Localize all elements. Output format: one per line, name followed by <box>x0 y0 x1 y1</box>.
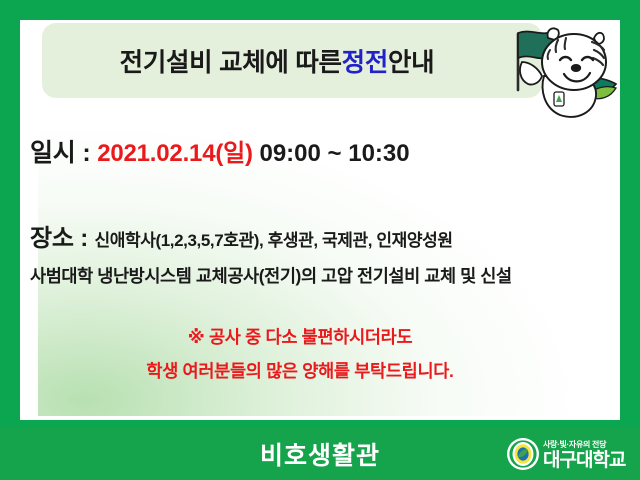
power-outage-notice-poster: 전기설비 교체에 따른 정전 안내 <box>0 0 640 480</box>
apology-line-2: 학생 여러분들의 많은 양해를 부탁드립니다. <box>0 358 600 383</box>
title-prefix: 전기설비 교체에 따른 <box>120 42 342 79</box>
datetime-date: 2021.02.14(일) <box>97 140 253 167</box>
place-value: 신애학사(1,2,3,5,7호관), 후생관, 국제관, 인재양성원 <box>95 231 453 250</box>
university-name: 대구대학교 <box>543 451 625 470</box>
work-description: 사범대학 냉난방시스템 교체공사(전기)의 고압 전기설비 교체 및 신설 <box>30 263 512 288</box>
place-label: 장소 : <box>30 225 95 252</box>
university-wordmark: 사랑·빛·자유의 전당 대구대학교 <box>543 439 625 470</box>
university-tagline: 사랑·빛·자유의 전당 <box>543 439 625 450</box>
datetime-line: 일시 : 2021.02.14(일) 09:00 ~ 10:30 <box>30 133 410 169</box>
university-emblem-icon <box>506 437 540 471</box>
place-line: 장소 : 신애학사(1,2,3,5,7호관), 후생관, 국제관, 인재양성원 <box>30 218 453 253</box>
title-suffix: 안내 <box>388 42 434 79</box>
apology-line-1: ※ 공사 중 다소 불편하시더라도 <box>0 324 600 349</box>
datetime-label: 일시 : <box>30 139 97 167</box>
university-logo: 사랑·빛·자유의 전당 대구대학교 <box>506 432 634 476</box>
page-title: 전기설비 교체에 따른 정전 안내 <box>42 23 512 98</box>
datetime-time: 09:00 ~ 10:30 <box>253 140 410 167</box>
title-highlight-outage: 정전 <box>342 42 388 79</box>
white-tiger-mascot-icon <box>498 16 624 124</box>
